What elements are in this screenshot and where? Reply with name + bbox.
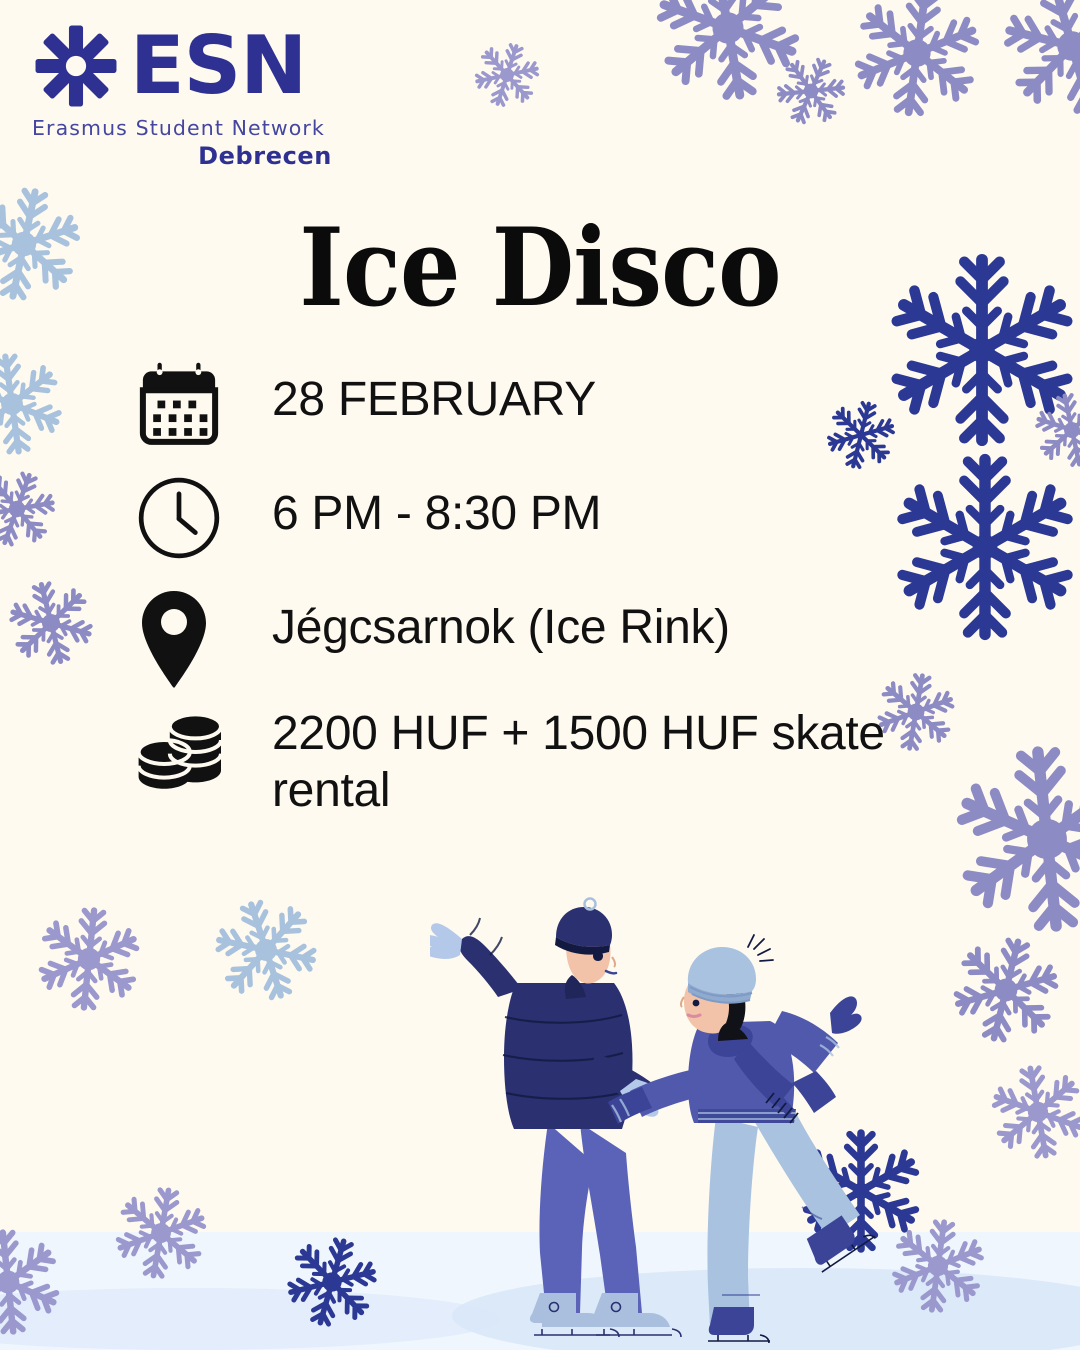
location-pin-icon (136, 586, 232, 694)
two-ice-skaters-illustration (430, 855, 1050, 1350)
snowflake-top-d-icon (985, 0, 1080, 133)
event-detail-time: 6 PM - 8:30 PM (136, 472, 966, 564)
skater-left (430, 899, 681, 1338)
event-time-text: 6 PM - 8:30 PM (272, 472, 601, 543)
snowflake-right-small-2-icon (1027, 385, 1080, 475)
esn-logo: ESN Erasmus Student Network Debrecen (32, 22, 332, 170)
esn-city-name: Debrecen (32, 142, 332, 170)
esn-logo-mark-row: ESN (32, 22, 332, 110)
esn-tagline: Erasmus Student Network (32, 116, 332, 140)
snowflake-top-a-icon (642, 0, 813, 114)
snowflake-left-lower-icon (31, 901, 147, 1017)
snowflake-left-low2-icon (200, 884, 331, 1015)
esn-asterisk-star-icon (32, 22, 120, 110)
snowflake-top-c-icon (844, 0, 991, 126)
event-detail-location: Jégcsarnok (Ice Rink) (136, 586, 966, 694)
event-price-text: 2200 HUF + 1500 HUF skate rental (272, 702, 966, 819)
event-date-text: 28 FEBRUARY (272, 358, 596, 429)
snowflake-top-mid-a-icon (465, 33, 548, 116)
page-title: Ice Disco (65, 214, 1015, 322)
event-detail-price: 2200 HUF + 1500 HUF skate rental (136, 702, 966, 819)
esn-wordmark: ESN (130, 29, 306, 103)
clock-icon (136, 472, 232, 564)
skater-right (608, 935, 876, 1343)
event-poster: ESN Erasmus Student Network Debrecen Ice… (0, 0, 1080, 1350)
snowflake-top-b-icon (765, 45, 857, 137)
snowflake-left-mid-icon (0, 459, 67, 559)
event-location-text: Jégcsarnok (Ice Rink) (272, 586, 730, 657)
snowflake-left-small-icon (0, 571, 103, 675)
event-detail-date: 28 FEBRUARY (136, 358, 966, 450)
calendar-icon (136, 358, 232, 450)
event-details-list: 28 FEBRUARY 6 PM - 8:30 PM Jégcsarnok (I… (136, 358, 966, 819)
snowflake-left-upper-icon (0, 345, 71, 462)
coins-icon (136, 702, 232, 802)
